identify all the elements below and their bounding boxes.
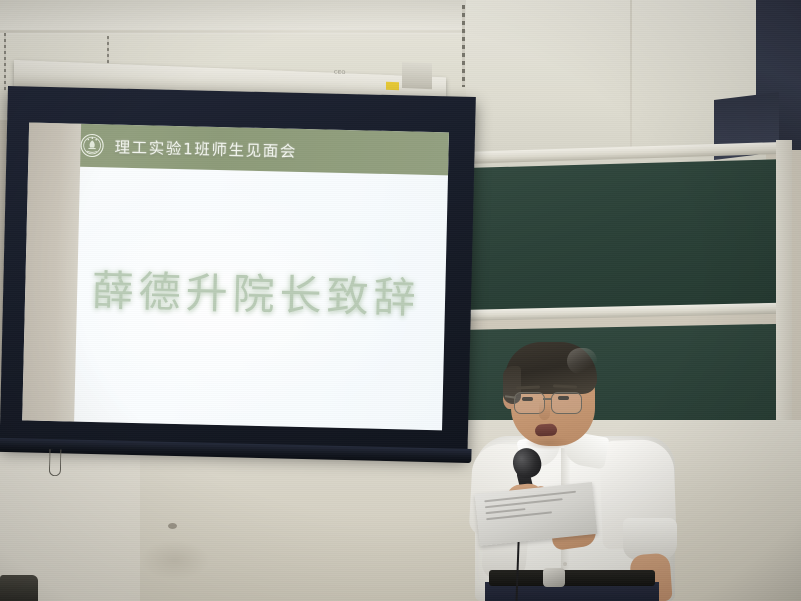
suspension-chain-right <box>462 5 465 87</box>
blackboard-panel-upper <box>466 159 778 313</box>
slide-unlit-left-margin <box>22 123 81 422</box>
slide-header-title: 理工实验1班师生见面会 <box>114 135 297 161</box>
hair-gray-highlight <box>567 348 597 374</box>
lecture-hall-photo: CEO 理工实验1班师生见面会 <box>0 0 801 601</box>
slide-body: 薛德升院长致辞 <box>22 165 448 430</box>
belt <box>489 570 655 586</box>
shirt-button-lower <box>563 562 567 566</box>
rail-mount-screw <box>168 523 177 529</box>
projected-slide: 理工实验1班师生见面会 薛德升院长致辞 <box>22 123 449 431</box>
wall-scuff-mark <box>140 540 210 580</box>
mouth-speaking <box>535 423 558 436</box>
university-crest-emblem <box>79 133 105 159</box>
glasses-lens-right <box>551 392 582 414</box>
belt-buckle <box>543 568 565 587</box>
chin-shadow <box>525 436 571 450</box>
suspension-chain-left <box>4 33 6 91</box>
screen-pull-cord <box>49 449 62 476</box>
wall-seam-line <box>630 0 632 150</box>
slide-main-title: 薛德升院长致辞 <box>91 257 421 326</box>
housing-warning-sticker <box>386 82 399 91</box>
projection-screen: 理工实验1班师生见面会 薛德升院长致辞 <box>0 86 476 463</box>
speaker-person <box>455 340 695 601</box>
glasses-bridge <box>543 398 552 400</box>
foreground-desk-corner <box>0 575 38 601</box>
nose <box>539 402 550 420</box>
projector-screen-housing-endcap <box>402 62 432 89</box>
housing-brand-label: CEO <box>334 69 360 76</box>
